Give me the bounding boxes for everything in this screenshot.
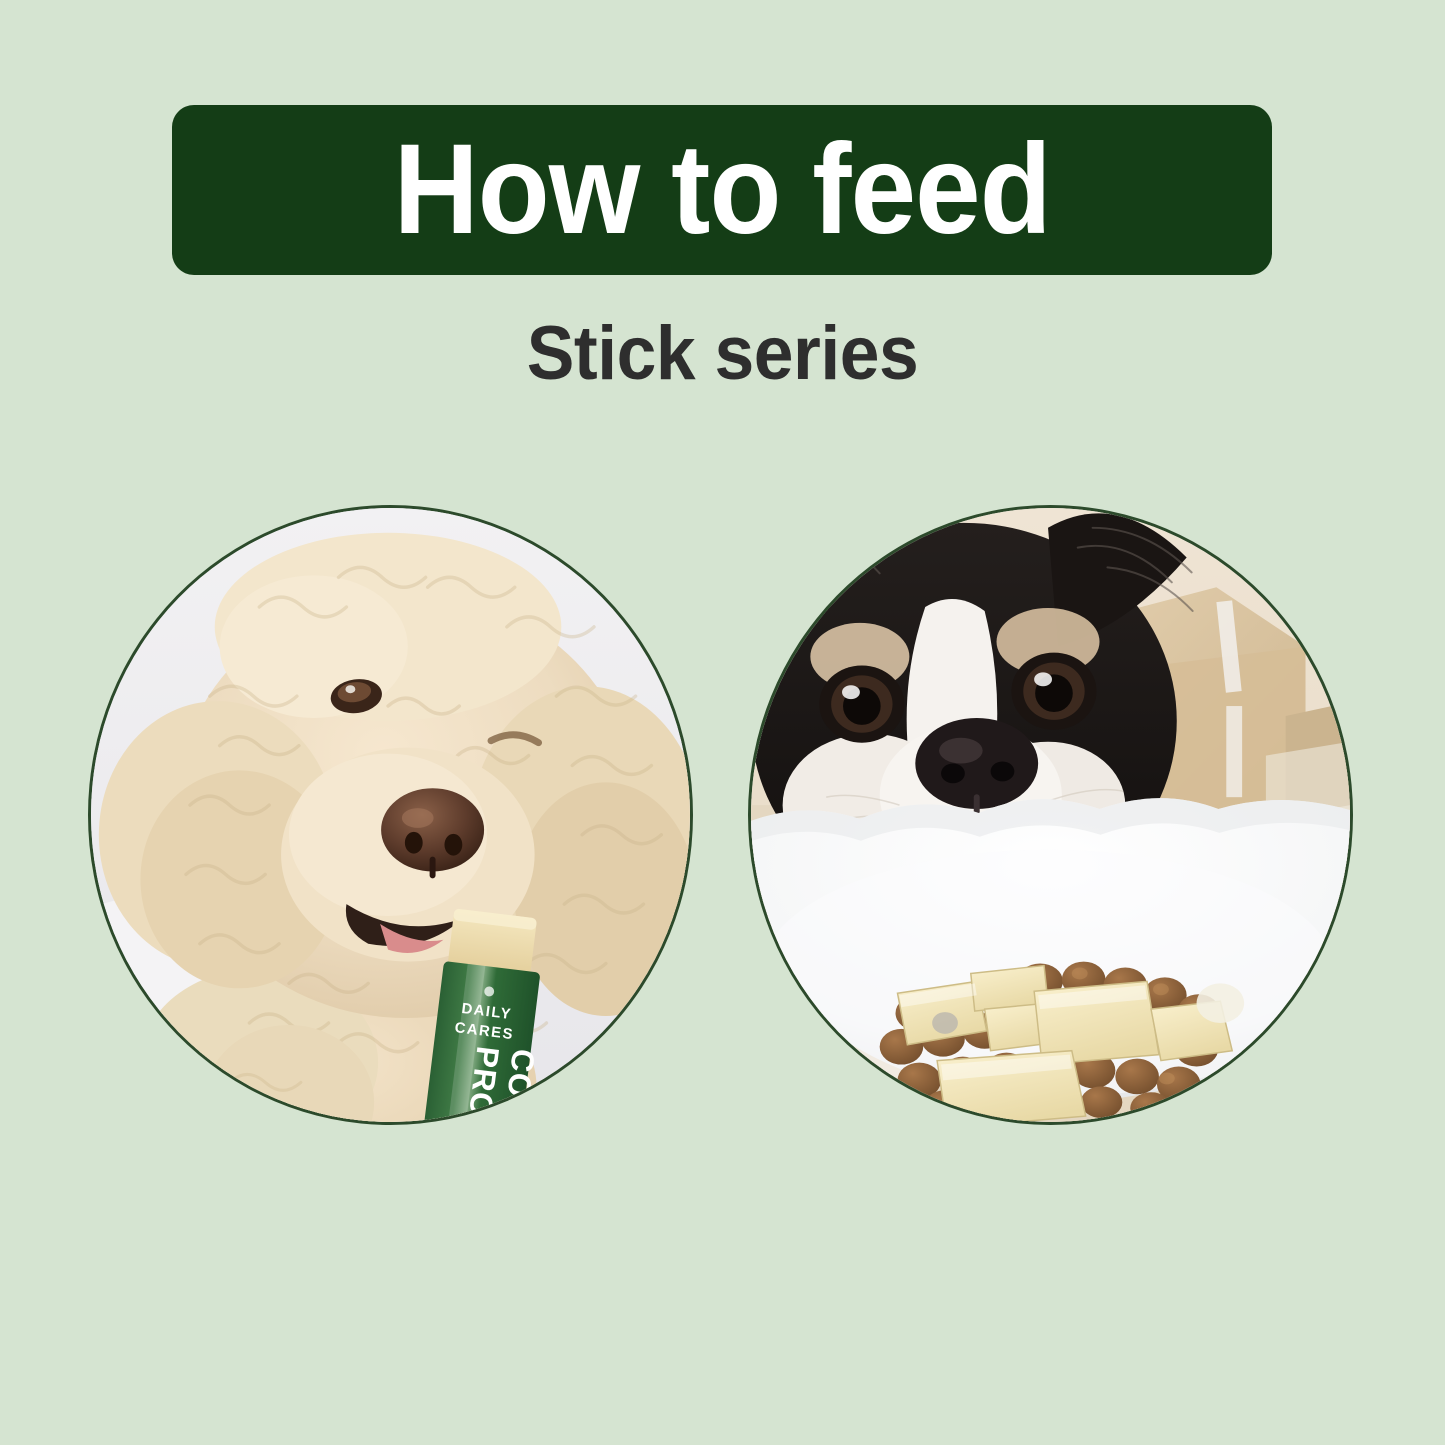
photo-poodle-with-stick: DAILY CARES COLOS PROTE [88,505,693,1125]
panel-mix-with-meal: Mix with meal [748,505,1353,1125]
panel-feed-alone: DAILY CARES COLOS PROTE Feed it alone as [88,505,693,1125]
photo-chihuahua-with-bowl [748,505,1353,1125]
feeding-methods-panels: DAILY CARES COLOS PROTE Feed it alone as [0,0,1445,1445]
